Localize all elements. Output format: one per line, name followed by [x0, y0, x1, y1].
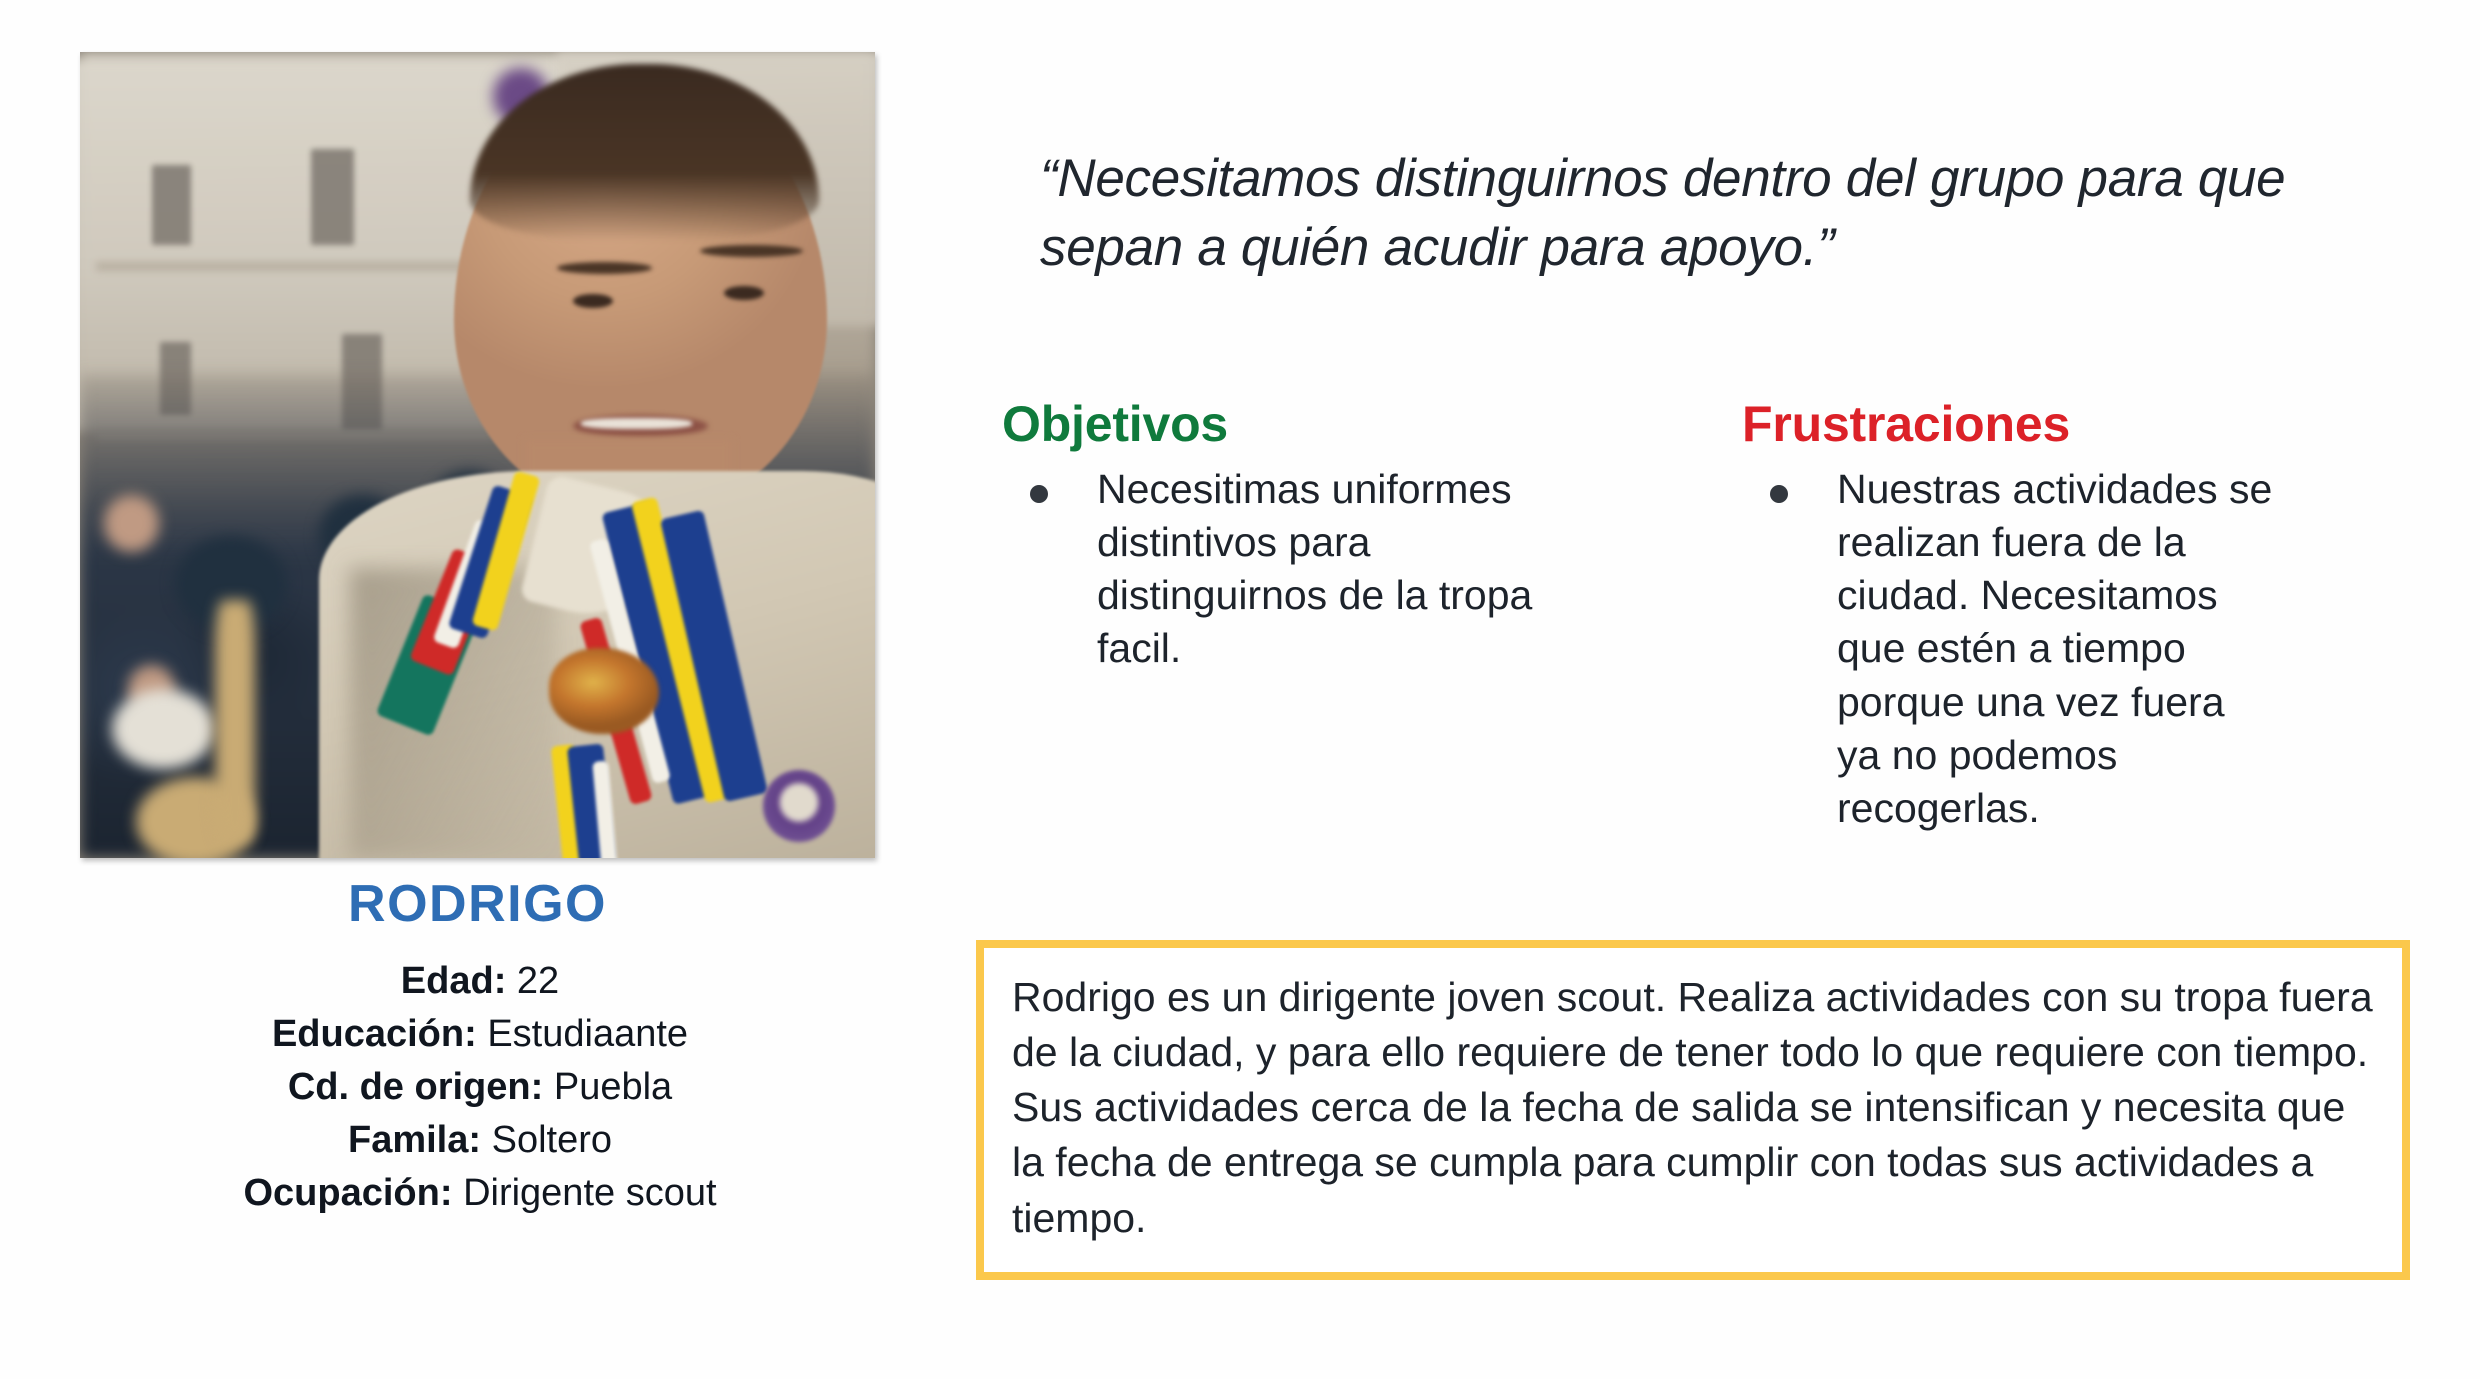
persona-quote: “Necesitamos distinguirnos dentro del gr… — [1040, 145, 2370, 283]
objetivos-column: Objetivos Necesitimas uniformes distinti… — [1002, 398, 1662, 676]
bullet-icon — [1770, 485, 1788, 503]
frustraciones-bullet-text: Nuestras actividades se realizan fuera d… — [1837, 463, 2277, 836]
frustraciones-column: Frustraciones Nuestras actividades se re… — [1742, 398, 2422, 836]
page-title: RODRIGO — [80, 878, 875, 930]
field-row: Ocupación: Dirigente scout — [40, 1174, 920, 1212]
field-label: Edad: — [401, 960, 507, 1002]
field-value: Soltero — [492, 1119, 612, 1161]
list-item: Nuestras actividades se realizan fuera d… — [1742, 463, 2422, 836]
frustraciones-heading: Frustraciones — [1742, 398, 2422, 451]
field-label: Cd. de origen: — [288, 1066, 543, 1108]
objetivos-bullet-text: Necesitimas uniformes distintivos para d… — [1097, 463, 1537, 676]
photo-shoulder-badge — [763, 770, 835, 842]
field-value: Estudiaante — [487, 1013, 688, 1055]
description-box: Rodrigo es un dirigente joven scout. Rea… — [976, 940, 2410, 1280]
objetivos-heading: Objetivos — [1002, 398, 1662, 451]
field-row: Educación: Estudiaante — [40, 1015, 920, 1053]
photo-eye — [573, 294, 613, 308]
persona-slide: RODRIGO Edad: 22 Educación: Estudiaante … — [0, 0, 2480, 1379]
field-row: Famila: Soltero — [40, 1121, 920, 1159]
photo-hair — [470, 64, 820, 241]
photo-canvas — [80, 52, 875, 858]
field-label: Educación: — [272, 1013, 477, 1055]
photo-subject — [80, 52, 875, 858]
bullet-icon — [1030, 485, 1048, 503]
persona-fields: Edad: 22 Educación: Estudiaante Cd. de o… — [40, 962, 920, 1227]
photo-eyebrow — [557, 262, 652, 274]
photo-woggle — [549, 648, 659, 734]
field-value: Puebla — [554, 1066, 672, 1108]
field-row: Cd. de origen: Puebla — [40, 1068, 920, 1106]
description-text: Rodrigo es un dirigente joven scout. Rea… — [1012, 970, 2378, 1246]
field-label: Famila: — [348, 1119, 481, 1161]
photo-teeth — [581, 418, 692, 429]
field-label: Ocupación: — [243, 1172, 452, 1214]
field-value: 22 — [517, 960, 559, 1002]
field-value: Dirigente scout — [463, 1172, 716, 1214]
list-item: Necesitimas uniformes distintivos para d… — [1002, 463, 1662, 676]
field-row: Edad: 22 — [40, 962, 920, 1000]
photo-eye — [724, 286, 764, 300]
persona-photo — [80, 52, 875, 858]
